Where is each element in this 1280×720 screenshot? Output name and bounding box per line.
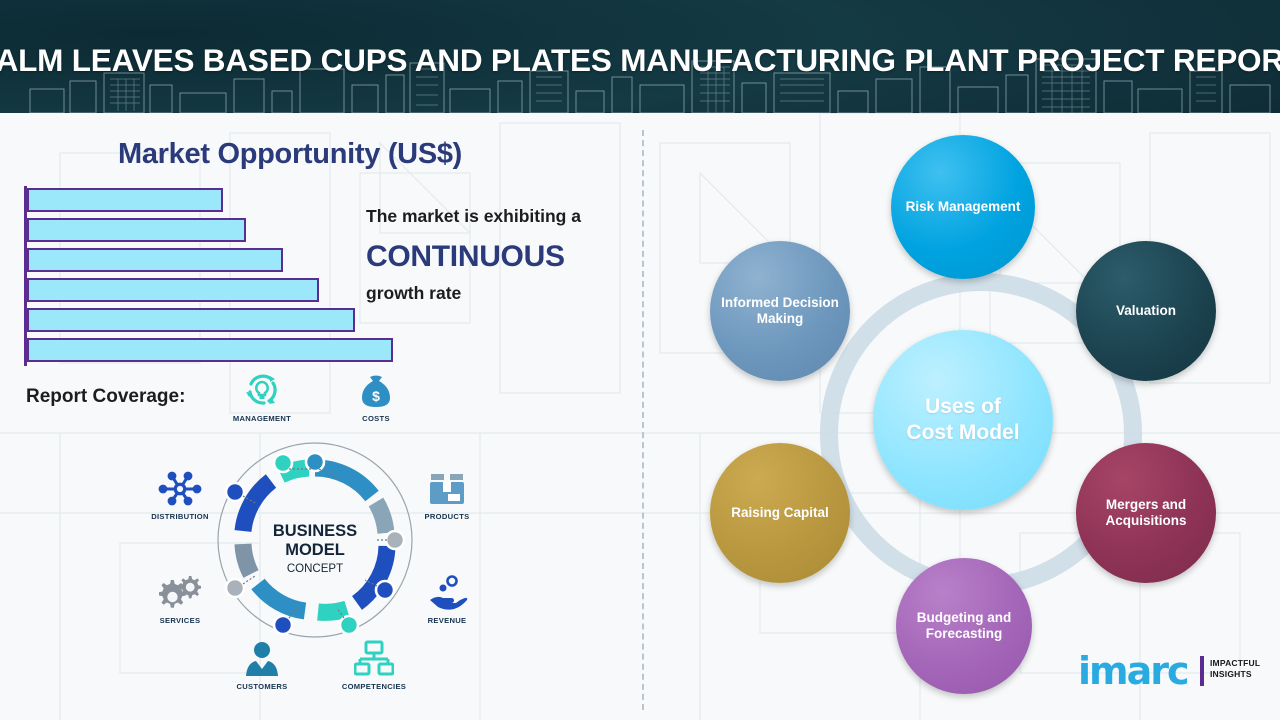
market-opportunity-title: Market Opportunity (US$) [118, 138, 462, 171]
coverage-node-customers: CUSTOMERS [212, 634, 312, 691]
header-banner: PALM LEAVES BASED CUPS AND PLATES MANUFA… [0, 0, 1280, 113]
wheel-center-line2: MODEL [285, 541, 345, 559]
network-nodes-icon [130, 464, 230, 508]
center-node-line2: Cost Model [906, 421, 1019, 444]
bar-row [27, 188, 223, 212]
node-informed-decision-making[interactable]: Informed Decision Making [710, 241, 850, 381]
node-valuation[interactable]: Valuation [1076, 241, 1216, 381]
user-icon [212, 634, 312, 678]
market-opportunity-bar-chart [24, 186, 424, 366]
node-raising-capital[interactable]: Raising Capital [710, 443, 850, 583]
product-box-icon [397, 464, 497, 508]
bar-row [27, 248, 283, 272]
coverage-node-services: SERVICES [130, 568, 230, 625]
coverage-node-label: CUSTOMERS [212, 682, 312, 691]
coverage-node-competencies: COMPETENCIES [324, 634, 424, 691]
coverage-node-label: PRODUCTS [397, 512, 497, 521]
gears-icon [130, 568, 230, 612]
bar-row [27, 278, 319, 302]
center-node-uses-of-cost-model: Uses of Cost Model [873, 330, 1053, 510]
uses-of-cost-model-diagram: Uses of Cost Model Risk Management Valua… [640, 113, 1280, 720]
logo-divider [1200, 656, 1204, 686]
coverage-node-label: REVENUE [397, 616, 497, 625]
coverage-node-revenue: REVENUE [397, 568, 497, 625]
coverage-node-label: COSTS [326, 414, 426, 423]
logo-tagline-line2: INSIGHTS [1210, 669, 1252, 679]
coverage-node-costs: $ COSTS [326, 366, 426, 423]
coverage-node-distribution: DISTRIBUTION [130, 464, 230, 521]
coverage-node-products: PRODUCTS [397, 464, 497, 521]
business-model-infographic: BUSINESS MODEL CONCEPT [125, 368, 525, 708]
bar-row [27, 218, 246, 242]
svg-text:$: $ [372, 388, 380, 404]
hand-coins-icon [397, 568, 497, 612]
coverage-node-label: MANAGEMENT [212, 414, 312, 423]
bar-row [27, 308, 355, 332]
node-risk-management[interactable]: Risk Management [891, 135, 1035, 279]
coverage-node-label: DISTRIBUTION [130, 512, 230, 521]
node-mergers-acquisitions[interactable]: Mergers and Acquisitions [1076, 443, 1216, 583]
coverage-node-label: SERVICES [130, 616, 230, 625]
slide-canvas: PALM LEAVES BASED CUPS AND PLATES MANUFA… [0, 0, 1280, 720]
growth-statement-line3: growth rate [366, 283, 461, 304]
recycle-lightbulb-icon [212, 366, 312, 410]
imarc-logo[interactable]: imarc IMPACTFUL INSIGHTS [1078, 652, 1276, 700]
growth-statement-line1: The market is exhibiting a [366, 206, 581, 227]
node-budgeting-forecasting[interactable]: Budgeting and Forecasting [896, 558, 1032, 694]
growth-statement-emphasis: CONTINUOUS [366, 240, 565, 274]
wheel-center-line1: BUSINESS [273, 522, 357, 540]
org-chart-icon [324, 634, 424, 678]
coverage-node-management: MANAGEMENT [212, 366, 312, 423]
logo-tagline-line1: IMPACTFUL [1210, 658, 1260, 668]
center-node-line1: Uses of [925, 395, 1001, 418]
coverage-node-label: COMPETENCIES [324, 682, 424, 691]
page-title: PALM LEAVES BASED CUPS AND PLATES MANUFA… [0, 0, 1280, 113]
wheel-center-line3: CONCEPT [287, 563, 343, 575]
bar-row [27, 338, 393, 362]
logo-tagline: IMPACTFUL INSIGHTS [1210, 658, 1260, 680]
money-bag-icon: $ [326, 366, 426, 410]
